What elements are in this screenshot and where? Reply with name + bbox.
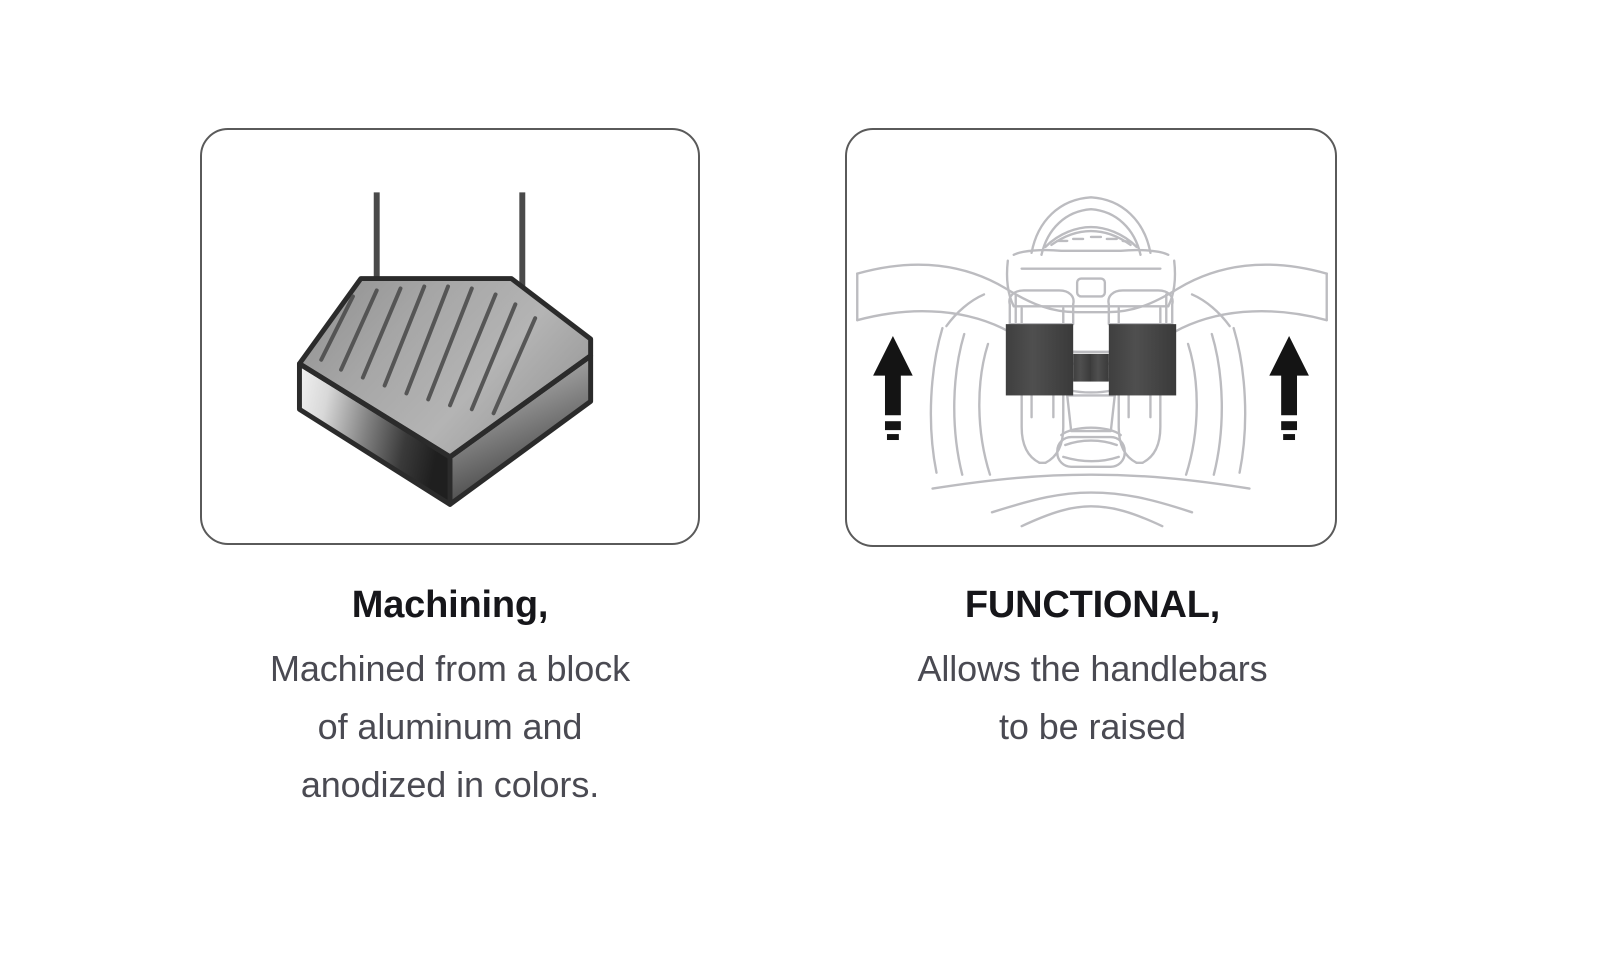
arrow-up-left-icon (873, 336, 913, 440)
functional-body: Allows the handlebars to be raised (823, 640, 1363, 757)
riser-block-left (1006, 324, 1091, 395)
machining-caption: Machining, Machined from a block of alum… (160, 583, 740, 815)
functional-illustration-card (845, 128, 1337, 547)
cnc-milling-machine-icon (202, 130, 698, 543)
feature-card-machining: Machining, Machined from a block of alum… (160, 0, 740, 977)
aluminum-block (299, 279, 590, 505)
functional-body-line: Allows the handlebars (823, 640, 1363, 698)
machining-title: Machining, (160, 583, 740, 628)
functional-caption: FUNCTIONAL, Allows the handlebars to be … (805, 583, 1380, 756)
riser-block-right (1091, 324, 1176, 395)
functional-body-line: to be raised (823, 698, 1363, 756)
functional-title: FUNCTIONAL, (805, 583, 1380, 628)
arrow-up-right-icon (1269, 336, 1309, 440)
machining-body-line: of aluminum and (190, 698, 710, 756)
feature-grid: Machining, Machined from a block of alum… (0, 0, 1600, 977)
machining-body-line: anodized in colors. (190, 756, 710, 814)
machining-illustration-card (200, 128, 700, 545)
feature-card-functional: FUNCTIONAL, Allows the handlebars to be … (805, 0, 1380, 977)
machining-body-line: Machined from a block (190, 640, 710, 698)
machining-body: Machined from a block of aluminum and an… (190, 640, 710, 815)
handlebar-riser-icon (847, 130, 1335, 545)
